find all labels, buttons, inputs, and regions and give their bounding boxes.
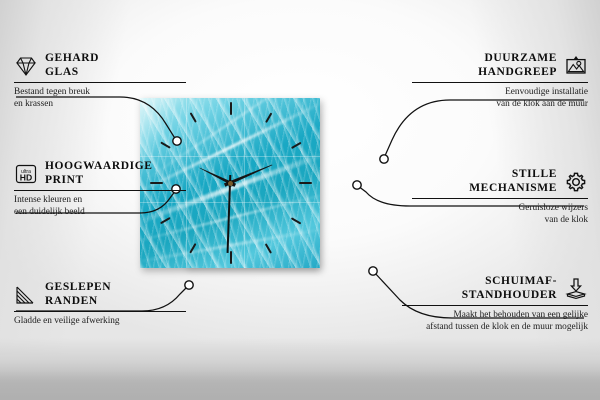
- feature-desc-line: een duidelijk beeld: [14, 207, 186, 218]
- clock-tick: [291, 217, 301, 224]
- feature-divider: [14, 311, 186, 312]
- clock-tick: [230, 251, 232, 264]
- feature-gehard-glas: GEHARD GLAS Bestand tegen breuk en krass…: [14, 52, 186, 110]
- press-down-pad-icon: [564, 277, 588, 301]
- feature-title-line: GEHARD: [45, 52, 99, 66]
- feature-geslepen-randen: GESLEPEN RANDEN Gladde en veilige afwerk…: [14, 281, 186, 328]
- feature-divider: [14, 190, 186, 191]
- framed-picture-icon: [564, 54, 588, 78]
- feature-desc-line: afstand tussen de klok en de muur mogeli…: [402, 322, 588, 333]
- feature-title-line: GLAS: [45, 66, 99, 80]
- feature-title-line: STANDHOUDER: [462, 289, 557, 303]
- clock-tick: [160, 217, 170, 224]
- feature-stille-mechanisme: STILLE MECHANISME Geruisloze wijzers van…: [412, 168, 588, 226]
- feature-title-line: STILLE: [469, 168, 557, 182]
- gear-icon: [564, 170, 588, 194]
- feature-desc-line: van de klok aan de muur: [412, 99, 588, 110]
- feature-desc-line: Gladde en veilige afwerking: [14, 316, 186, 327]
- feature-divider: [14, 82, 186, 83]
- feature-divider: [412, 82, 588, 83]
- feature-desc-line: en krassen: [14, 99, 186, 110]
- clock-tick: [291, 142, 301, 149]
- feature-desc-line: Maakt het behouden van een gelijke: [402, 310, 588, 321]
- clock-tick: [299, 182, 312, 184]
- feature-title-line: RANDEN: [45, 295, 111, 309]
- connector-node: [369, 267, 377, 275]
- feature-title-line: GESLEPEN: [45, 281, 111, 295]
- beveled-edges-icon: [14, 283, 38, 307]
- connector-node: [380, 155, 388, 163]
- feature-desc-line: Geruisloze wijzers: [412, 203, 588, 214]
- background-floor-shadow: [0, 370, 600, 400]
- diamond-icon: [14, 54, 38, 78]
- ultra-hd-icon: ultra HD: [14, 162, 38, 186]
- connector-node: [353, 181, 361, 189]
- clock-tick: [265, 243, 272, 253]
- clock-tick: [190, 112, 197, 122]
- clock-tick: [230, 102, 232, 115]
- glass-mullion: [186, 98, 187, 268]
- feature-schuimaf-standhouder: SCHUIMAF- STANDHOUDER Maakt het behouden…: [402, 275, 588, 333]
- feature-title-line: SCHUIMAF-: [462, 275, 557, 289]
- feature-desc-line: Intense kleuren en: [14, 195, 186, 206]
- clock-tick: [160, 142, 170, 149]
- hd-label: HD: [20, 172, 32, 182]
- feature-desc-line: Bestand tegen breuk: [14, 87, 186, 98]
- feature-title-line: HANDGREEP: [478, 66, 557, 80]
- feature-title-line: PRINT: [45, 174, 153, 188]
- glass-mullion: [140, 156, 320, 157]
- feature-hoogwaardige-print: ultra HD HOOGWAARDIGE PRINT Intense kleu…: [14, 160, 186, 218]
- feature-divider: [402, 305, 588, 306]
- clock-tick: [265, 112, 272, 122]
- feature-desc-line: Eenvoudige installatie: [412, 87, 588, 98]
- feature-title-line: DUURZAME: [478, 52, 557, 66]
- feature-duurzame-handgreep: DUURZAME HANDGREEP Eenvoudige installati…: [412, 52, 588, 110]
- glass-mullion: [244, 98, 245, 268]
- feature-title-line: MECHANISME: [469, 182, 557, 196]
- feature-title-line: HOOGWAARDIGE: [45, 160, 153, 174]
- infographic-canvas: GEHARD GLAS Bestand tegen breuk en krass…: [0, 0, 600, 400]
- feature-divider: [412, 198, 588, 199]
- feature-desc-line: van de klok: [412, 215, 588, 226]
- hand-cap: [228, 181, 233, 186]
